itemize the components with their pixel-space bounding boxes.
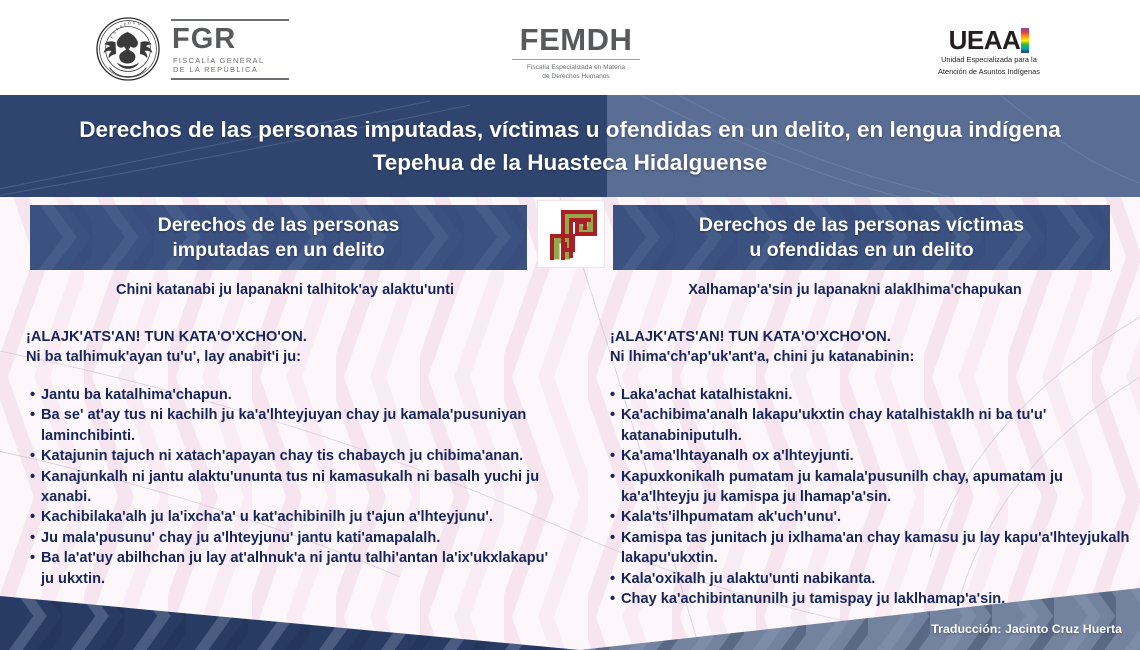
ueaai-logo: UEAA Unidad Especializada para la Atenci… [938, 27, 1040, 77]
fgr-subtitle-line1: FISCALÍA GENERAL [173, 56, 289, 66]
logo-bar: E S T A D O S U FGR FISCALÍA GENERAL DE … [0, 0, 1140, 95]
list-item: Kachibilaka'alh ju la'ixcha'a' u kat'ach… [30, 507, 556, 527]
banner-title-line2: Tepehua de la Huasteca Hidalguense [373, 148, 768, 177]
rights-list-imputadas: Jantu ba katalhima'chapun. Ba se' at'ay … [0, 385, 570, 589]
column-imputadas-intro: ¡ALAJK'ATS'AN! TUN KATA'O'XCHO'ON. Ni ba… [0, 327, 570, 367]
mexican-coat-of-arms-icon: E S T A D O S U [95, 16, 161, 82]
list-item: Ba se' at'ay tus ni kachilh ju ka'a'lhte… [30, 405, 556, 446]
ueaai-subtitle-line2: Atención de Asuntos Indígenas [938, 67, 1040, 77]
section-header-victimas: Derechos de las personas víctimas u ofen… [613, 205, 1110, 270]
svg-text:T: T [115, 27, 120, 32]
list-item: Ka'ama'lhtayanalh ox a'lhteyjunti. [610, 446, 1130, 466]
column-imputadas-intro-line2: Ni ba talhimuk'ayan tu'u', lay anabit'i … [26, 347, 570, 367]
greca-fret-emblem-icon [538, 201, 604, 267]
poster-root: E S T A D O S U FGR FISCALÍA GENERAL DE … [0, 0, 1140, 650]
svg-text:S: S [133, 21, 136, 25]
svg-text:U: U [137, 22, 141, 27]
list-item: Katajunin tajuch ni xatach'apayan chay t… [30, 446, 556, 466]
section-header-victimas-line1: Derechos de las personas víctimas [699, 213, 1024, 238]
ueaai-subtitle-line1: Unidad Especializada para la [941, 55, 1037, 65]
fgr-logo: E S T A D O S U FGR FISCALÍA GENERAL DE … [95, 16, 289, 82]
svg-text:E: E [110, 35, 115, 40]
fgr-rule-bottom [171, 78, 289, 80]
rainbow-bar-icon [1021, 28, 1029, 53]
list-item: Laka'achat katalhistakni. [610, 385, 1130, 405]
column-victimas-intro: ¡ALAJK'ATS'AN! TUN KATA'O'XCHO'ON. Ni lh… [570, 327, 1140, 367]
svg-text:O: O [128, 21, 132, 25]
list-item: Kamispa tas junitach ju ixlhama'an chay … [610, 528, 1130, 569]
list-item: Jantu ba katalhima'chapun. [30, 385, 556, 405]
list-item: Kanajunkalh ni jantu alaktu'ununta tus n… [30, 467, 556, 508]
femdh-subtitle-line1: Fiscalía Especializada en Materia [527, 63, 625, 72]
fgr-rule-top [171, 19, 289, 21]
column-imputadas-intro-line1: ¡ALAJK'ATS'AN! TUN KATA'O'XCHO'ON. [26, 327, 570, 347]
femdh-logo: FEMDH Fiscalía Especializada en Materia … [512, 24, 640, 81]
fgr-logo-text: FGR FISCALÍA GENERAL DE LA REPÚBLICA [171, 19, 289, 80]
section-header-victimas-line2: u ofendidas en un delito [699, 238, 1024, 263]
footer-chevron-shape [0, 582, 1140, 650]
section-header-victimas-text: Derechos de las personas víctimas u ofen… [699, 213, 1024, 263]
fgr-acronym: FGR [172, 24, 289, 54]
fgr-subtitle-line2: DE LA REPÚBLICA [173, 65, 289, 75]
column-victimas-intro-line1: ¡ALAJK'ATS'AN! TUN KATA'O'XCHO'ON. [610, 327, 1140, 347]
rights-list-victimas: Laka'achat katalhistakni. Ka'achibima'an… [570, 385, 1140, 609]
femdh-subtitle-line2: de Derechos Humanos [542, 72, 609, 81]
section-header-imputadas-line2: imputadas en un delito [158, 238, 400, 263]
column-imputadas-subtitle: Chini katanabi ju lapanakni talhitok'ay … [0, 281, 570, 299]
ueaai-acronym-row: UEAA [949, 27, 1030, 53]
column-imputadas: Chini katanabi ju lapanakni talhitok'ay … [0, 281, 570, 589]
list-item: Kapuxkonikalh pumatam ju kamala'pusunilh… [610, 467, 1130, 508]
column-victimas-intro-line2: Ni lhima'ch'ap'uk'ant'a, chini ju katana… [610, 347, 1140, 367]
title-banner: Derechos de las personas imputadas, víct… [0, 95, 1140, 197]
section-header-imputadas-line1: Derechos de las personas [158, 213, 400, 238]
footer-band: Traducción: Jacinto Cruz Huerta [0, 582, 1140, 650]
section-header-imputadas: Derechos de las personas imputadas en un… [30, 205, 527, 270]
translation-credit: Traducción: Jacinto Cruz Huerta [931, 622, 1122, 636]
ueaai-acronym: UEAA [949, 27, 1021, 53]
banner-text: Derechos de las personas imputadas, víct… [0, 95, 1140, 197]
femdh-acronym: FEMDH [520, 24, 633, 56]
section-header-imputadas-text: Derechos de las personas imputadas en un… [158, 213, 400, 263]
banner-title-line1: Derechos de las personas imputadas, víct… [79, 115, 1061, 144]
list-item: Ju mala'pusunu' chay ju a'lhteyjunu' jan… [30, 528, 556, 548]
list-item: Ka'achibima'analh lakapu'ukxtin chay kat… [610, 405, 1130, 446]
column-victimas-subtitle: Xalhamap'a'sin ju lapanakni alaklhima'ch… [570, 281, 1140, 299]
svg-text:D: D [123, 22, 127, 27]
column-victimas: Xalhamap'a'sin ju lapanakni alaklhima'ch… [570, 281, 1140, 609]
femdh-rule [512, 59, 640, 60]
list-item: Kala'ts'ilhpumatam ak'uch'unu'. [610, 507, 1130, 527]
